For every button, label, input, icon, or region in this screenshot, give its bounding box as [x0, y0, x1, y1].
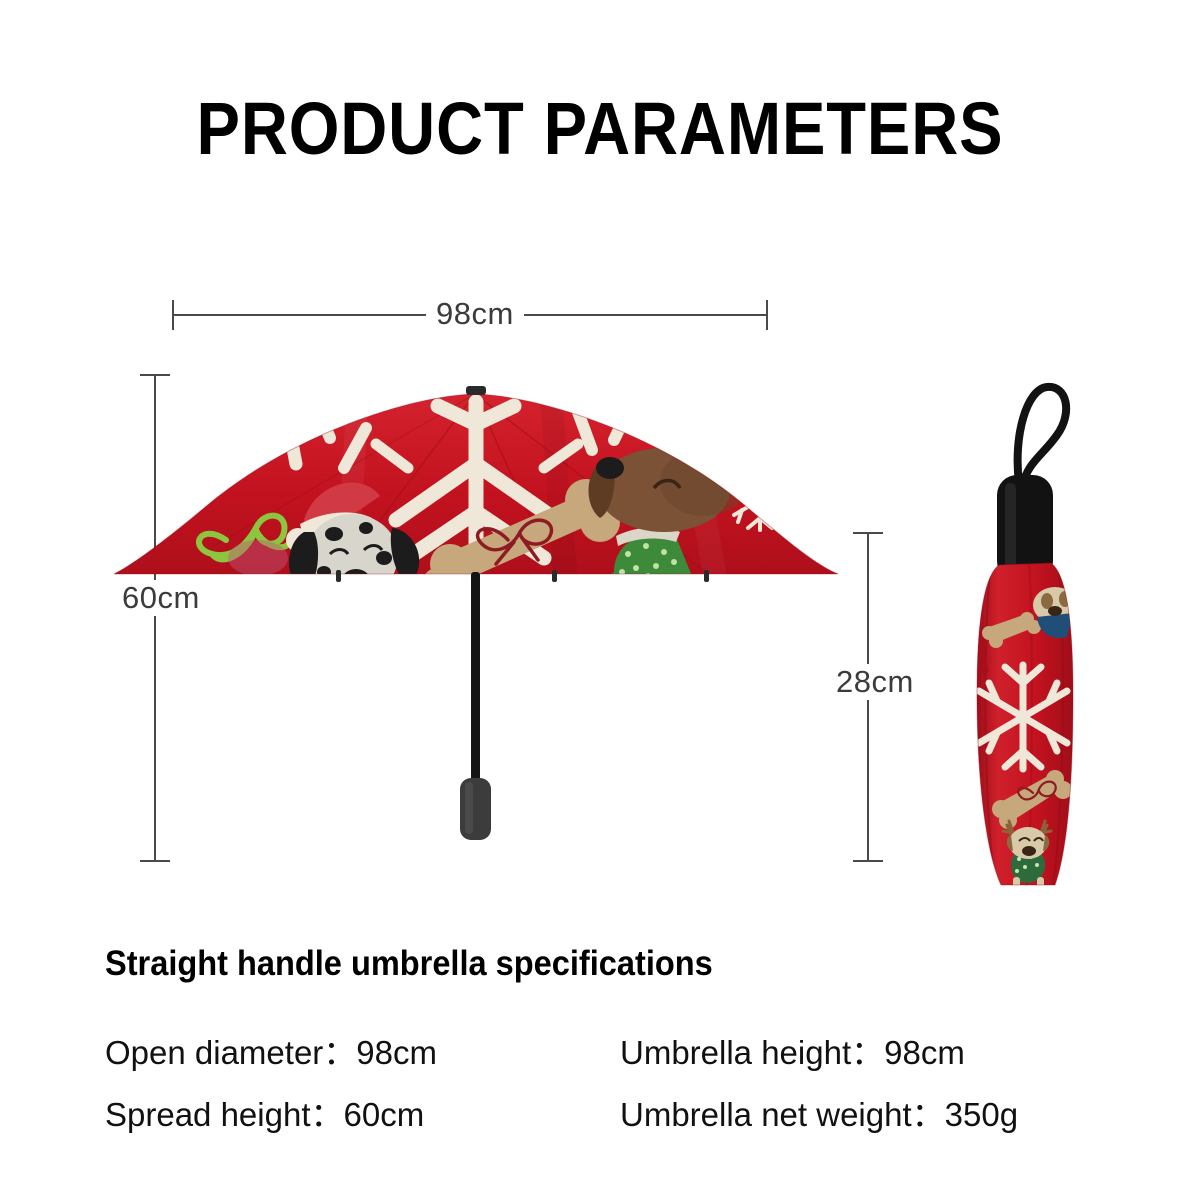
page-title: PRODUCT PARAMETERS	[72, 86, 1128, 171]
wrist-strap	[1018, 387, 1067, 485]
spec-net-weight-label: Umbrella net weight：	[620, 1096, 945, 1133]
dimension-canopy-height-cap-bottom	[140, 860, 170, 862]
spec-umbrella-height: Umbrella height：98cm	[620, 1026, 1125, 1074]
umbrella-grip-highlight	[465, 782, 473, 834]
umbrella-apex-ferrule	[466, 386, 486, 395]
dimension-width-cap-right	[766, 300, 768, 330]
umbrella-grip	[460, 778, 491, 840]
open-umbrella-illustration	[108, 372, 848, 842]
dimension-folded-length-cap-bottom	[853, 860, 883, 862]
spec-open-diameter-value: 98cm	[356, 1034, 437, 1071]
dog-paw-top-right	[703, 385, 757, 442]
spec-net-weight: Umbrella net weight：350g	[620, 1088, 1125, 1136]
dog-brown-left	[112, 418, 230, 502]
spec-umbrella-height-label: Umbrella height：	[620, 1034, 884, 1071]
spec-spread-height-value: 60cm	[344, 1096, 425, 1133]
spec-row: Open diameter：98cm Umbrella height：98cm	[105, 1026, 1125, 1074]
spec-umbrella-height-value: 98cm	[884, 1034, 965, 1071]
dimension-width-label: 98cm	[426, 296, 524, 332]
spec-open-diameter: Open diameter：98cm	[105, 1026, 620, 1074]
candy-cane	[256, 381, 296, 464]
folded-body	[971, 563, 1077, 889]
umbrella-canopy	[112, 372, 838, 605]
folded-umbrella-illustration	[955, 365, 1095, 910]
umbrella-shaft	[471, 572, 480, 784]
spec-spread-height-label: Spread height：	[105, 1096, 344, 1133]
spec-spread-height: Spread height：60cm	[105, 1088, 620, 1136]
spec-open-diameter-label: Open diameter：	[105, 1034, 356, 1071]
spec-table: Open diameter：98cm Umbrella height：98cm …	[105, 1026, 1125, 1150]
spec-net-weight-value: 350g	[945, 1096, 1018, 1133]
spec-row: Spread height：60cm Umbrella net weight：3…	[105, 1088, 1125, 1136]
spec-heading: Straight handle umbrella specifications	[105, 944, 713, 984]
folded-handle-highlight	[1005, 483, 1016, 573]
